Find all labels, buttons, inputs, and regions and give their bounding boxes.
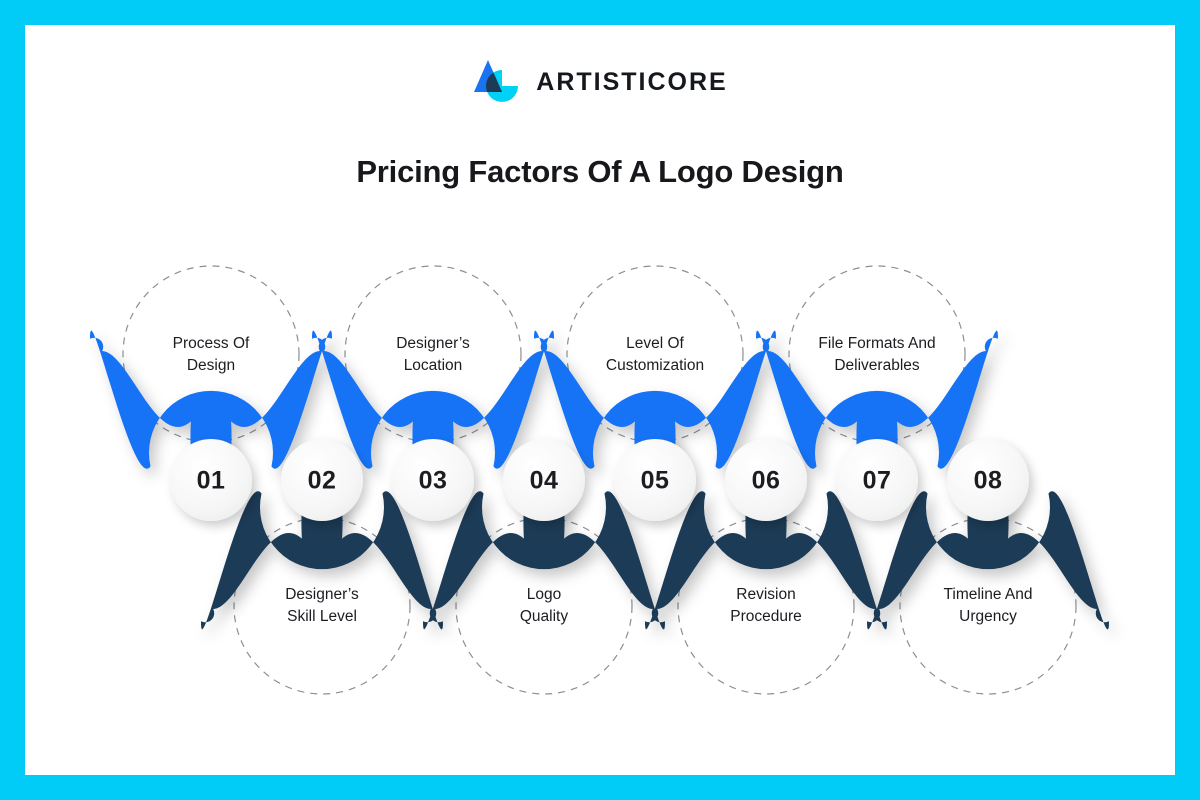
step-number-disc[interactable] (281, 439, 363, 521)
step-number-disc[interactable] (392, 439, 474, 521)
step-number-disc[interactable] (503, 439, 585, 521)
diagram-canvas (25, 25, 1175, 775)
poster-frame: ARTISTICORE Pricing Factors Of A Logo De… (0, 0, 1200, 800)
step-number-disc[interactable] (725, 439, 807, 521)
dashed-circles-layer (123, 266, 1076, 694)
number-discs-layer (170, 439, 1029, 521)
step-number-disc[interactable] (947, 439, 1029, 521)
poster-canvas: ARTISTICORE Pricing Factors Of A Logo De… (25, 25, 1175, 775)
step-number-disc[interactable] (614, 439, 696, 521)
step-number-disc[interactable] (170, 439, 252, 521)
step-number-disc[interactable] (836, 439, 918, 521)
process-diagram: 01Process Of Design02Designer’s Skill Le… (25, 25, 1175, 775)
